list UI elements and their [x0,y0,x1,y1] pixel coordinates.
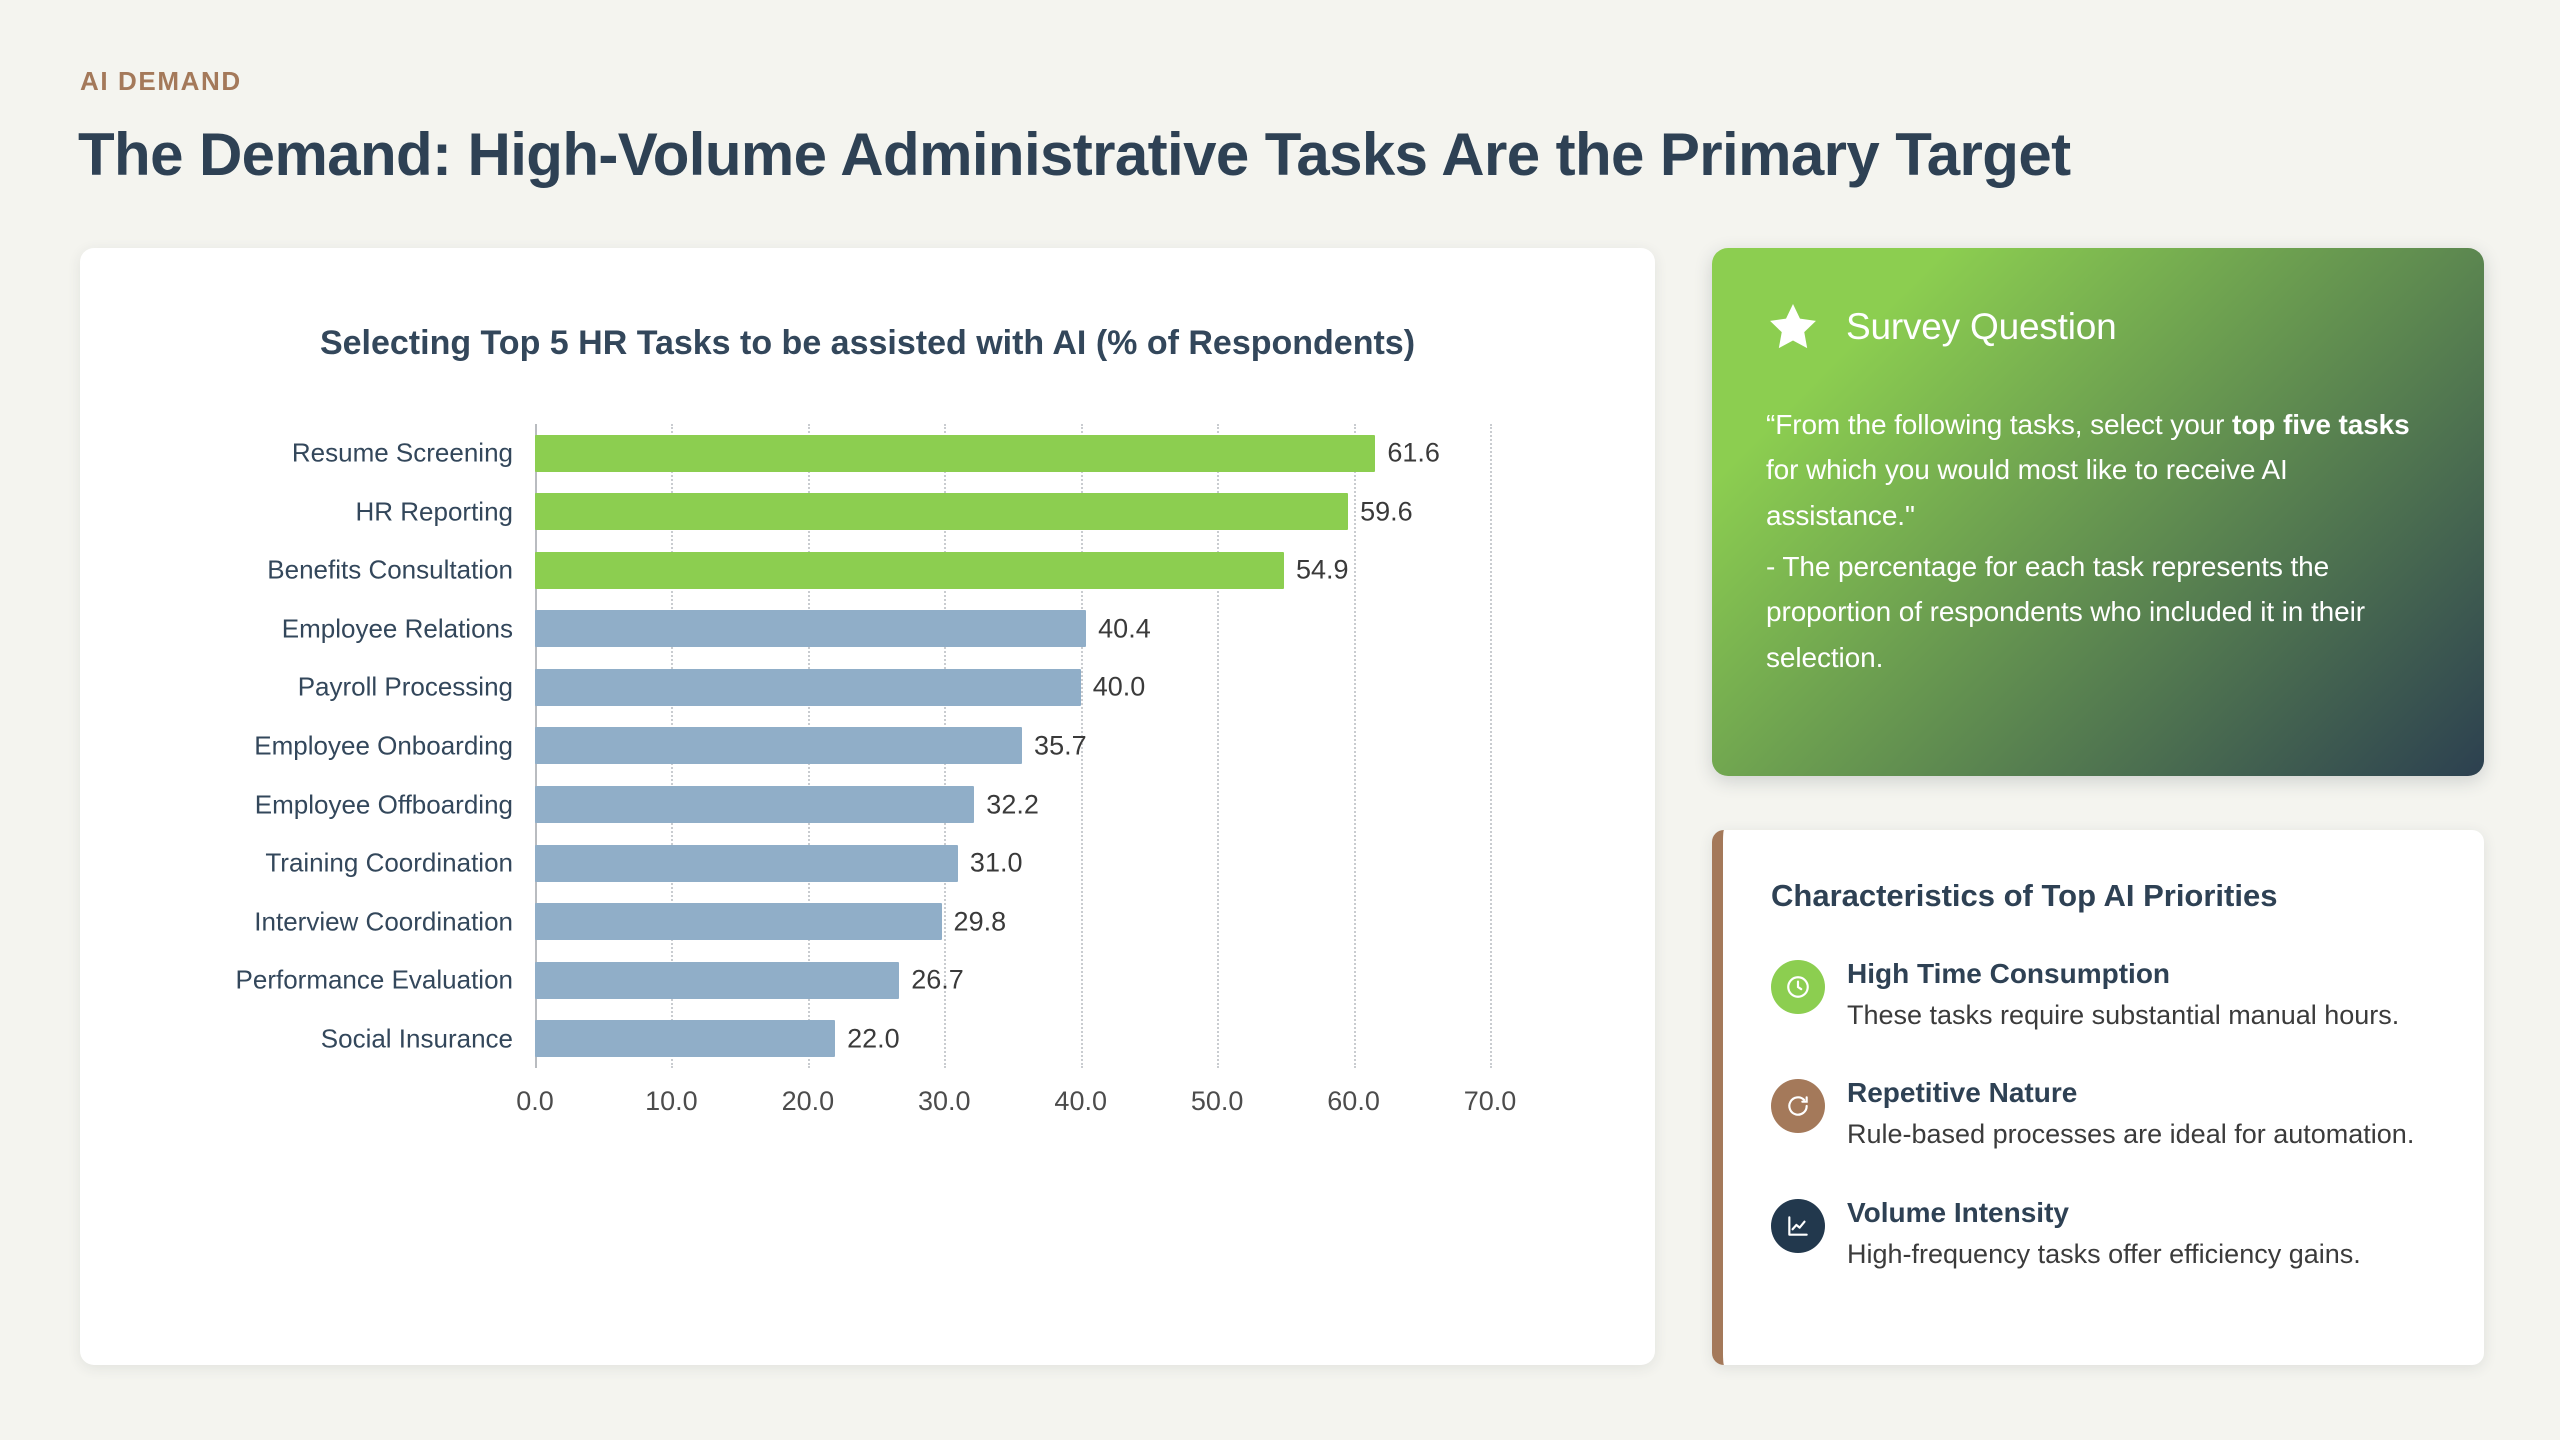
bar-category-label: Benefits Consultation [267,555,513,586]
bar-category-label: Performance Evaluation [236,965,513,996]
characteristic-heading: High Time Consumption [1847,956,2399,991]
bar-value-label: 22.0 [847,1023,900,1054]
characteristic-description: Rule-based processes are ideal for autom… [1847,1116,2414,1152]
bar-value-label: 29.8 [954,906,1007,937]
characteristic-item: Repetitive NatureRule-based processes ar… [1771,1075,2440,1152]
chart-bar-row[interactable]: Employee Relations40.4 [535,600,1490,659]
chart-title: Selecting Top 5 HR Tasks to be assisted … [80,324,1655,363]
bar-value-label: 26.7 [911,965,964,996]
chart-bar-row[interactable]: Employee Offboarding32.2 [535,775,1490,834]
characteristics-list: High Time ConsumptionThese tasks require… [1771,956,2440,1272]
chart-card: Selecting Top 5 HR Tasks to be assisted … [80,248,1655,1365]
bar-category-label: HR Reporting [355,496,513,527]
clock-icon [1771,960,1825,1014]
bar-category-label: Interview Coordination [254,906,513,937]
survey-card-header: Survey Question [1766,300,2430,354]
characteristic-item: Volume IntensityHigh-frequency tasks off… [1771,1195,2440,1272]
characteristics-card: Characteristics of Top AI Priorities Hig… [1712,830,2484,1365]
chart-bar[interactable] [535,962,899,999]
survey-quote-part1: “From the following tasks, select your [1766,409,2232,440]
chart-bar-row[interactable]: HR Reporting59.6 [535,483,1490,542]
chart-bar-row[interactable]: Payroll Processing40.0 [535,658,1490,717]
characteristic-text: High Time ConsumptionThese tasks require… [1847,956,2399,1033]
chart-bar[interactable] [535,552,1284,589]
bar-category-label: Training Coordination [265,848,513,879]
survey-quote-bold2: five tasks [2283,409,2410,440]
x-axis-tick-label: 50.0 [1191,1086,1244,1117]
bar-value-label: 35.7 [1034,730,1087,761]
characteristic-item: High Time ConsumptionThese tasks require… [1771,956,2440,1033]
x-axis-tick-label: 60.0 [1327,1086,1380,1117]
chart-bar[interactable] [535,903,942,940]
chart-bar[interactable] [535,669,1081,706]
gridline [1490,424,1492,1068]
refresh-icon [1771,1079,1825,1133]
characteristic-description: High-frequency tasks offer efficiency ga… [1847,1236,2361,1272]
chart-bar[interactable] [535,1020,835,1057]
bar-category-label: Resume Screening [292,438,513,469]
page-title: The Demand: High-Volume Administrative T… [78,120,2071,189]
chart-bar[interactable] [535,493,1348,530]
chart-bar-row[interactable]: Performance Evaluation26.7 [535,951,1490,1010]
bar-category-label: Employee Relations [282,613,513,644]
characteristic-text: Repetitive NatureRule-based processes ar… [1847,1075,2414,1152]
survey-note: - The percentage for each task represent… [1766,544,2430,680]
bar-value-label: 40.4 [1098,613,1151,644]
bar-category-label: Social Insurance [321,1023,513,1054]
chart-bar-row[interactable]: Social Insurance22.0 [535,1009,1490,1068]
chart-bar[interactable] [535,845,958,882]
star-icon [1766,300,1820,354]
characteristic-text: Volume IntensityHigh-frequency tasks off… [1847,1195,2361,1272]
x-axis-tick-label: 70.0 [1464,1086,1517,1117]
chart-bar[interactable] [535,786,974,823]
x-axis-tick-label: 30.0 [918,1086,971,1117]
characteristic-description: These tasks require substantial manual h… [1847,997,2399,1033]
chart-bar[interactable] [535,727,1022,764]
chart-bar-row[interactable]: Resume Screening61.6 [535,424,1490,483]
x-axis-tick-label: 20.0 [782,1086,835,1117]
chart-bar-row[interactable]: Employee Onboarding35.7 [535,717,1490,776]
characteristic-heading: Volume Intensity [1847,1195,2361,1230]
bar-category-label: Employee Offboarding [255,789,513,820]
bar-category-label: Payroll Processing [298,672,513,703]
survey-question-card: Survey Question “From the following task… [1712,248,2484,776]
bar-category-label: Employee Onboarding [254,730,513,761]
bar-value-label: 40.0 [1093,672,1146,703]
survey-quote-part2 [2275,409,2283,440]
chart-line-icon [1771,1199,1825,1253]
survey-quote-bold1: top [2232,409,2275,440]
x-axis-tick-label: 10.0 [645,1086,698,1117]
x-axis-tick-label: 40.0 [1054,1086,1107,1117]
bar-value-label: 54.9 [1296,555,1349,586]
survey-card-title: Survey Question [1846,306,2117,348]
chart-plot-area: 0.010.020.030.040.050.060.070.0Resume Sc… [535,424,1490,1068]
chart-bar-row[interactable]: Benefits Consultation54.9 [535,541,1490,600]
bar-value-label: 31.0 [970,848,1023,879]
chart-bar[interactable] [535,435,1375,472]
bar-value-label: 32.2 [986,789,1039,820]
characteristics-title: Characteristics of Top AI Priorities [1771,878,2440,914]
slide-root: AI DEMAND The Demand: High-Volume Admini… [0,0,2560,1440]
chart-bar[interactable] [535,610,1086,647]
survey-quote-part3: for which you would most like to receive… [1766,454,2288,530]
survey-quote: “From the following tasks, select your t… [1766,402,2430,538]
chart-bar-row[interactable]: Interview Coordination29.8 [535,892,1490,951]
eyebrow-label: AI DEMAND [80,66,242,97]
chart-bar-row[interactable]: Training Coordination31.0 [535,834,1490,893]
characteristic-heading: Repetitive Nature [1847,1075,2414,1110]
bar-value-label: 59.6 [1360,496,1413,527]
x-axis-tick-label: 0.0 [516,1086,554,1117]
bar-value-label: 61.6 [1387,438,1440,469]
